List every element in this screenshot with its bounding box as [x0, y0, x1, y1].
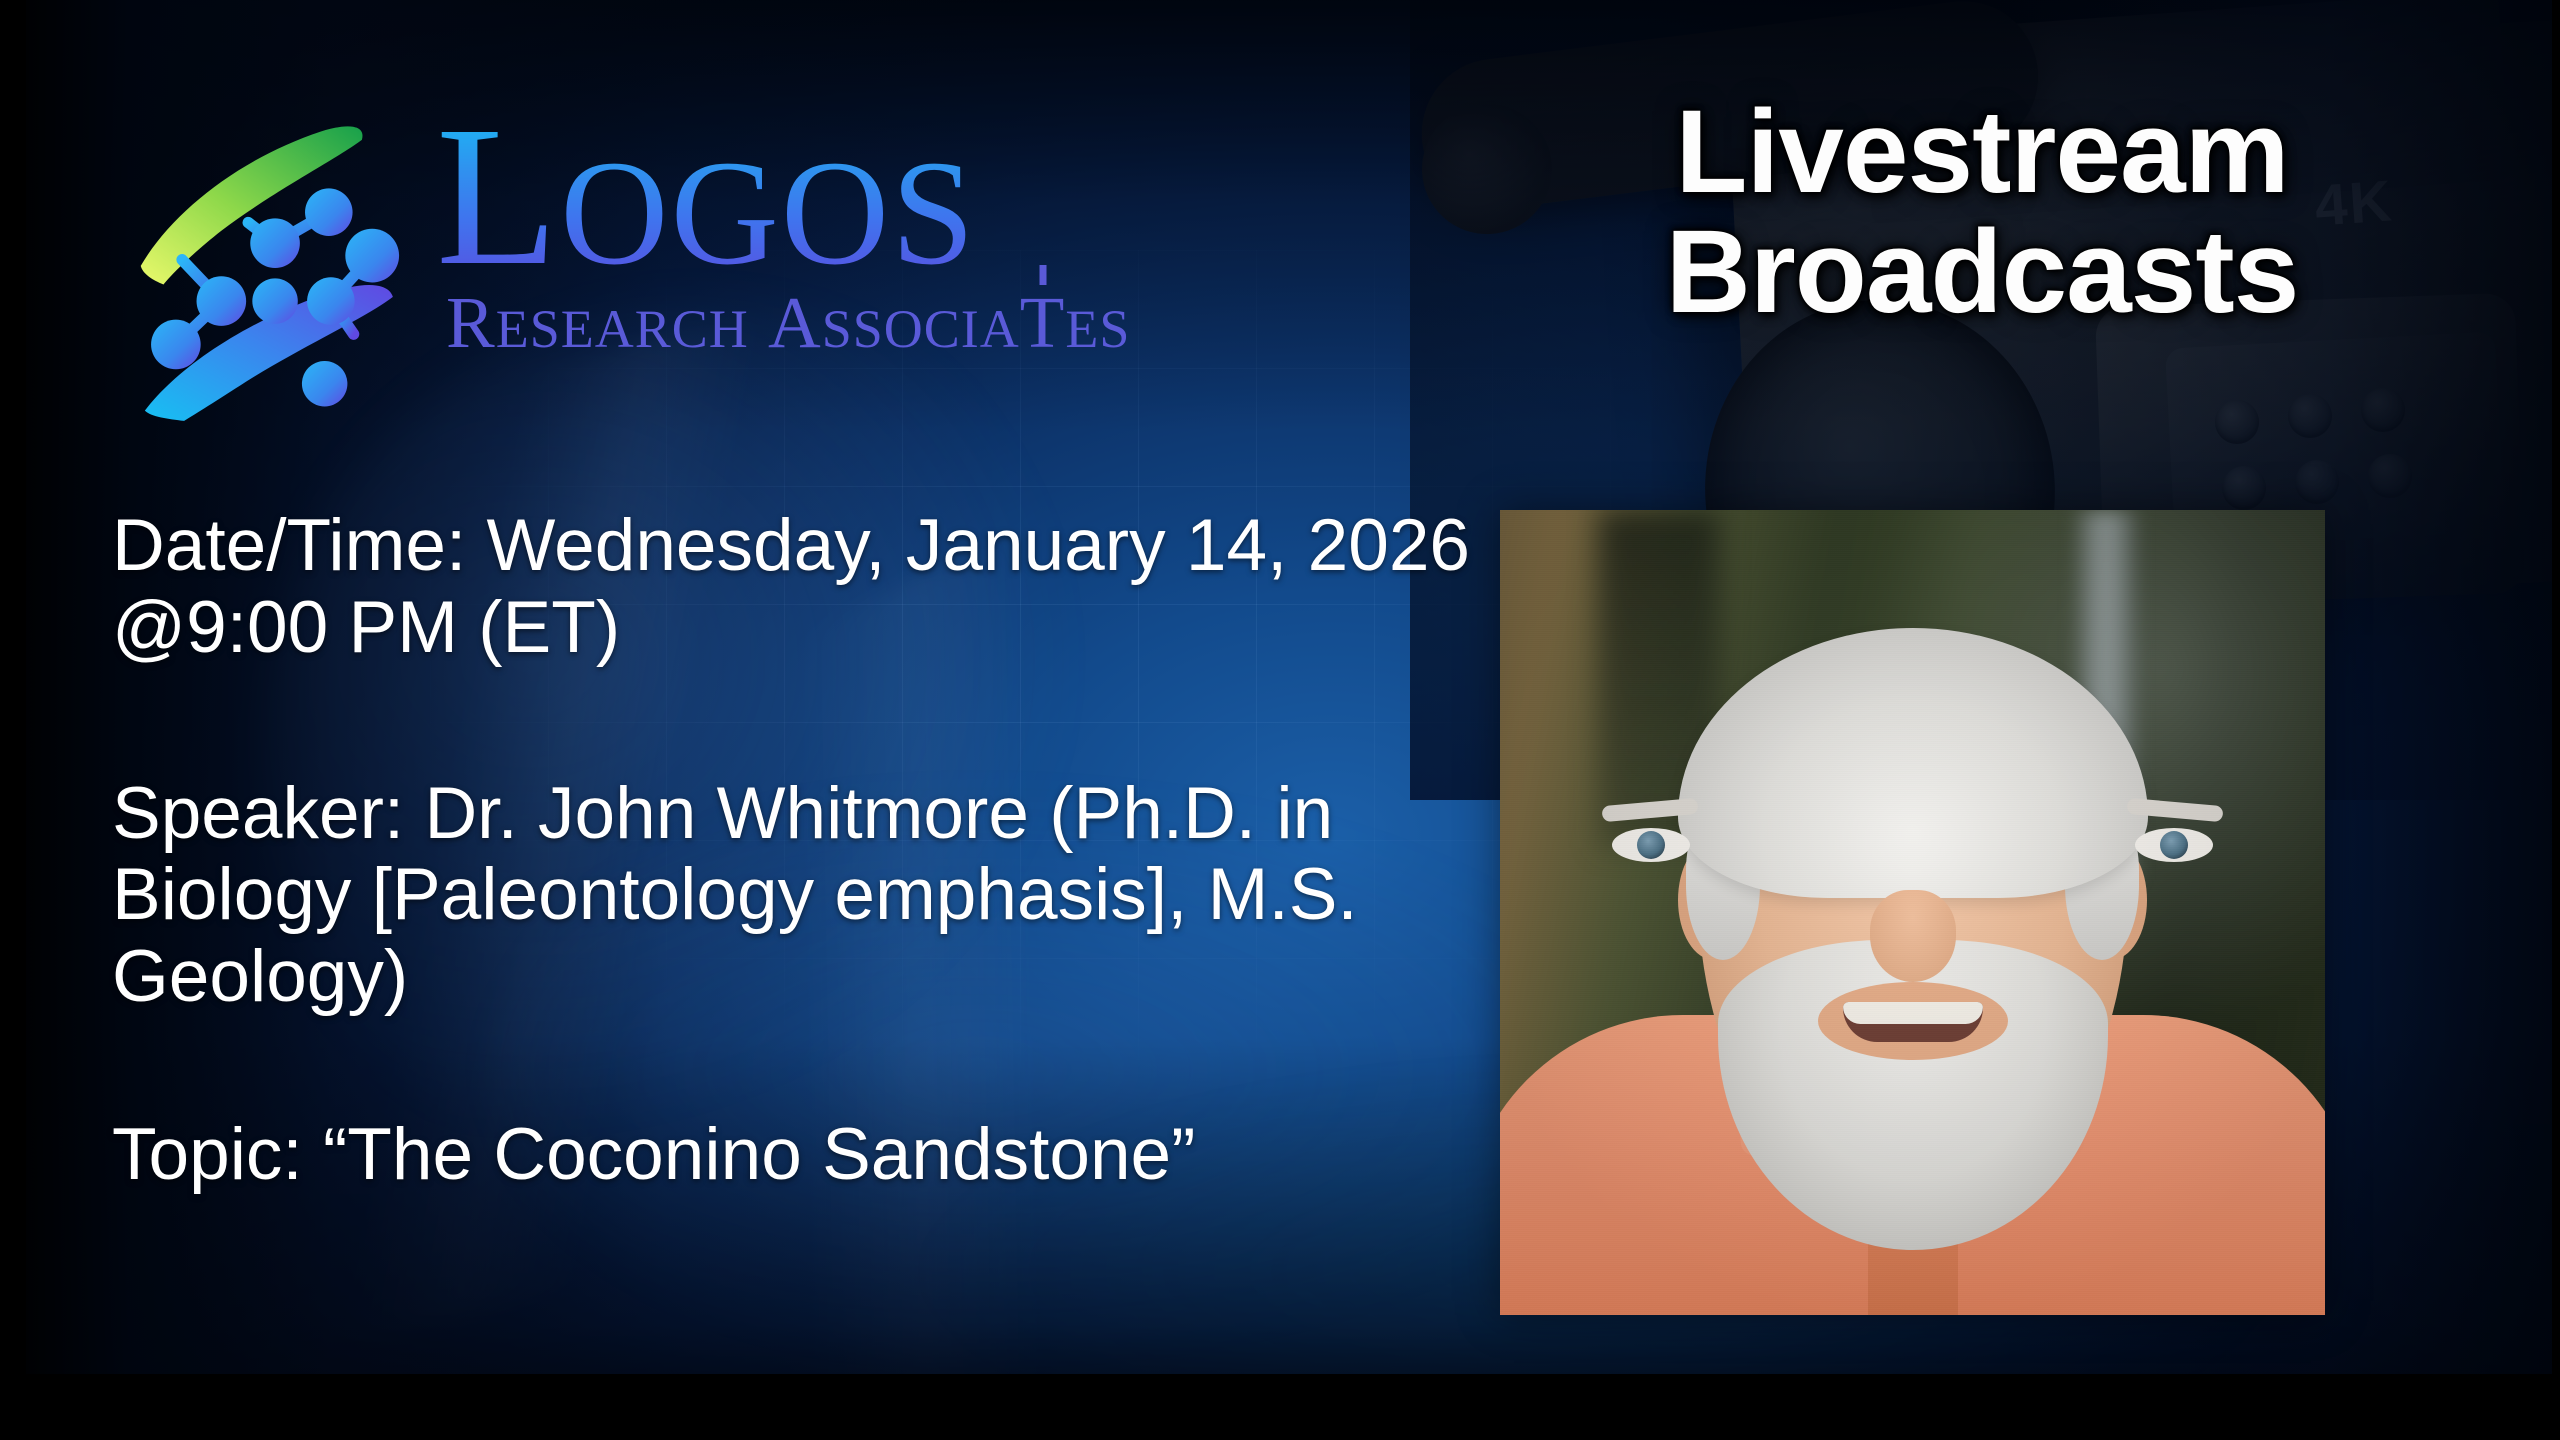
- photo-iris-right: [2160, 831, 2188, 859]
- datetime-line: Date/Time: Wednesday, January 14, 2026 @…: [112, 505, 1512, 669]
- photo-iris-left: [1637, 831, 1665, 859]
- dna-molecule-logo-mark: [118, 113, 428, 423]
- photo-mouth: [1843, 1002, 1983, 1042]
- logos-research-associates-logo: LOGOS RESEARCH ASSOCIATES: [118, 95, 1130, 423]
- cross-tau-glyph: T: [1020, 281, 1066, 365]
- speaker-photo: [1500, 510, 2325, 1315]
- photo-teeth: [1843, 1002, 1983, 1024]
- topic-line: Topic: “The Coconino Sandstone”: [112, 1114, 1512, 1196]
- left-edge-border: [0, 0, 26, 1440]
- logo-wordmark: LOGOS RESEARCH ASSOCIATES: [436, 95, 1130, 365]
- photo-nose: [1870, 890, 1956, 982]
- headline-line-1: Livestream: [1675, 86, 2288, 218]
- photo-eye-right: [2135, 828, 2213, 862]
- logo-tagline: RESEARCH ASSOCIATES: [446, 281, 1130, 365]
- livestream-announcement-slide: 4K: [0, 0, 2560, 1440]
- page-title: Livestream Broadcasts: [1472, 92, 2492, 333]
- headline-line-2: Broadcasts: [1472, 212, 2492, 332]
- bottom-black-bar: [0, 1374, 2560, 1440]
- right-edge-border: [2552, 0, 2560, 1440]
- photo-eye-left: [1612, 828, 1690, 862]
- event-details: Date/Time: Wednesday, January 14, 2026 @…: [112, 505, 1512, 1196]
- speaker-photo-frame: [1500, 510, 2325, 1315]
- speaker-line: Speaker: Dr. John Whitmore (Ph.D. in Bio…: [112, 773, 1512, 1018]
- logo-word-logos: LOGOS: [436, 105, 1130, 289]
